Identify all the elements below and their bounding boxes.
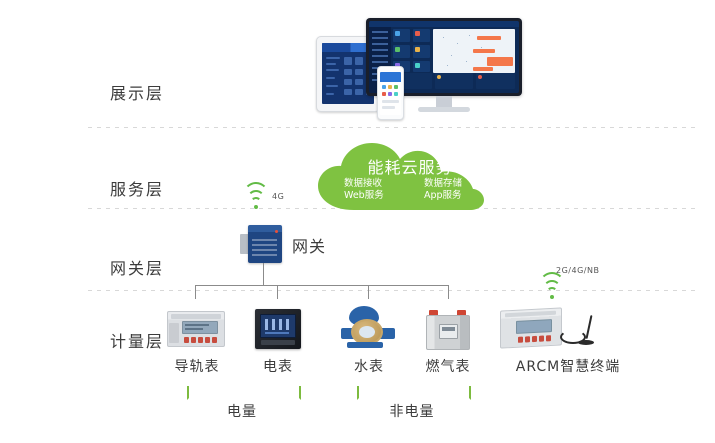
cloud-title: 能耗云服务 [312,154,508,178]
monitor-stand-base [418,107,470,112]
din-rail-meter-icon [167,311,225,347]
cloud-feature-data-receive: 数据接收 [338,178,412,190]
wifi-signal-icon [244,191,268,209]
layer-label-metering: 计量层 [110,328,164,352]
phone-screen [380,72,401,115]
terminal-network-tag: 2G/4G/NB [556,266,599,275]
smartphone-device-icon [377,66,404,120]
din-rail-meter-label: 导轨表 [157,356,237,376]
bracket-electric-group [187,386,301,400]
arcm-terminal-icon [500,309,562,347]
gateway-network-tag: 4G [272,192,284,201]
layer-separator-display [88,127,697,128]
gateway-device-icon [240,225,286,263]
drop-line-water [368,285,369,299]
architecture-diagram: 展示层 服务层 网关层 计量层 [0,0,715,443]
meter-bus-line [195,285,448,286]
cloud-service-shape: 能耗云服务 数据接收 Web服务 数据存储 App服务 [312,142,508,212]
arcm-terminal-label: ARCM智慧终端 [508,356,628,376]
cloud-feature-web-service: Web服务 [338,190,412,202]
gateway-label: 网关 [292,233,326,257]
drop-line-electric [277,285,278,299]
cloud-feature-app-service: App服务 [418,190,492,202]
water-meter-label: 水表 [329,356,409,376]
layer-label-gateway: 网关层 [110,255,164,279]
panel-meter-icon [255,309,301,349]
drop-line-din-rail [195,285,196,299]
bracket-non-electric-group [357,386,471,400]
antenna-icon [560,315,594,347]
bracket-label-electric: 电量 [192,401,292,421]
water-meter-icon [341,306,397,348]
monitor-map-panel [433,29,515,73]
electric-meter-label: 电表 [238,356,318,376]
layer-label-display: 展示层 [110,80,164,104]
gateway-stem-line [263,263,264,285]
layer-separator-gateway [88,290,697,291]
drop-line-gas [448,285,449,299]
cloud-feature-data-storage: 数据存储 [418,178,492,190]
gas-meter-icon [426,310,470,350]
gas-meter-label: 燃气表 [408,356,488,376]
layer-label-service: 服务层 [110,176,164,200]
wifi-signal-icon-terminal [540,281,564,299]
bracket-label-non-electric: 非电量 [362,401,462,421]
